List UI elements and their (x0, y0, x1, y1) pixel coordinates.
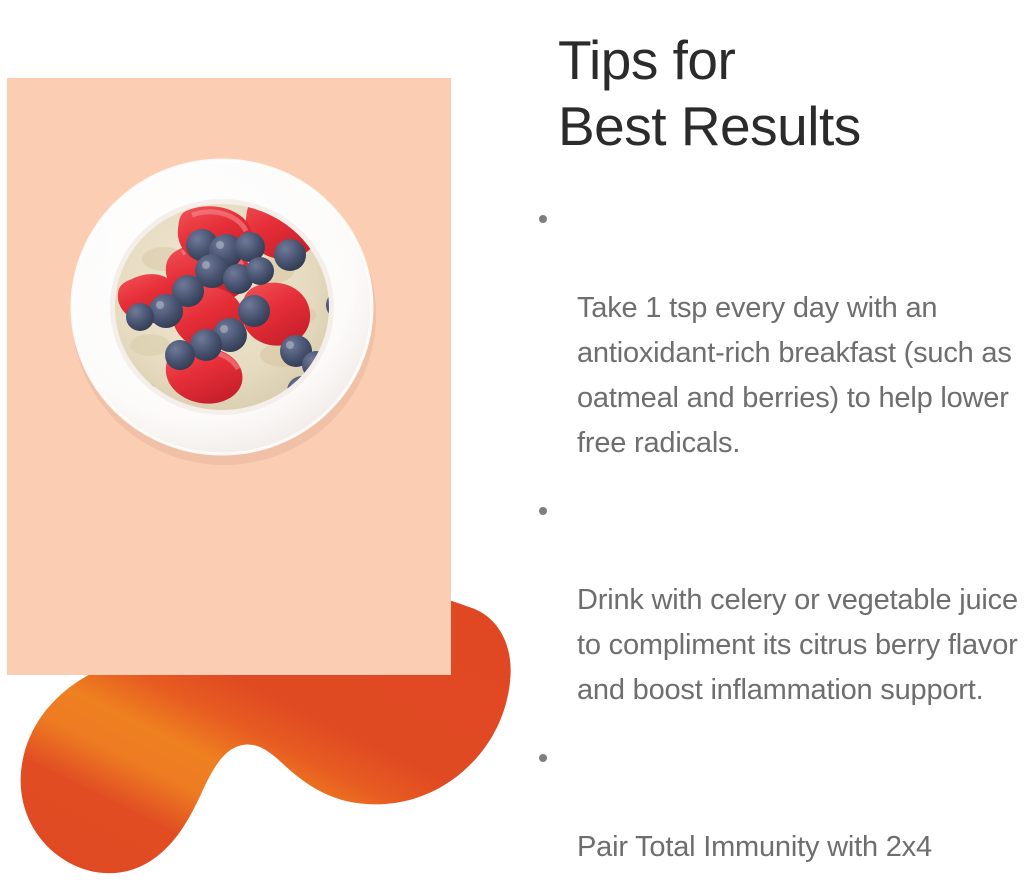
list-item: Drink with celery or vegetable juice to … (526, 488, 1024, 713)
tip-text: Drink with celery or vegetable juice to … (577, 584, 1018, 706)
bullet-dot-icon (539, 507, 547, 515)
tip-text: Take 1 tsp every day with an antioxidant… (577, 292, 1012, 459)
bullet-dot-icon (539, 215, 547, 223)
product-visual-column (0, 0, 512, 880)
tips-text-column: Tips for Best Results Take 1 tsp every d… (512, 0, 1024, 880)
oatmeal-bowl-photo (54, 139, 390, 475)
tips-list: Take 1 tsp every day with an antioxidant… (526, 196, 1024, 880)
promo-panel: Tips for Best Results Take 1 tsp every d… (0, 0, 1024, 880)
list-item: Pair Total Immunity with 2x4 Immune Stre… (526, 735, 1024, 880)
list-item: Take 1 tsp every day with an antioxidant… (526, 196, 1024, 466)
tip-text: Pair Total Immunity with 2x4 Immune Stre… (577, 831, 1022, 880)
bullet-dot-icon (539, 754, 547, 762)
page-title: Tips for Best Results (558, 27, 1018, 159)
